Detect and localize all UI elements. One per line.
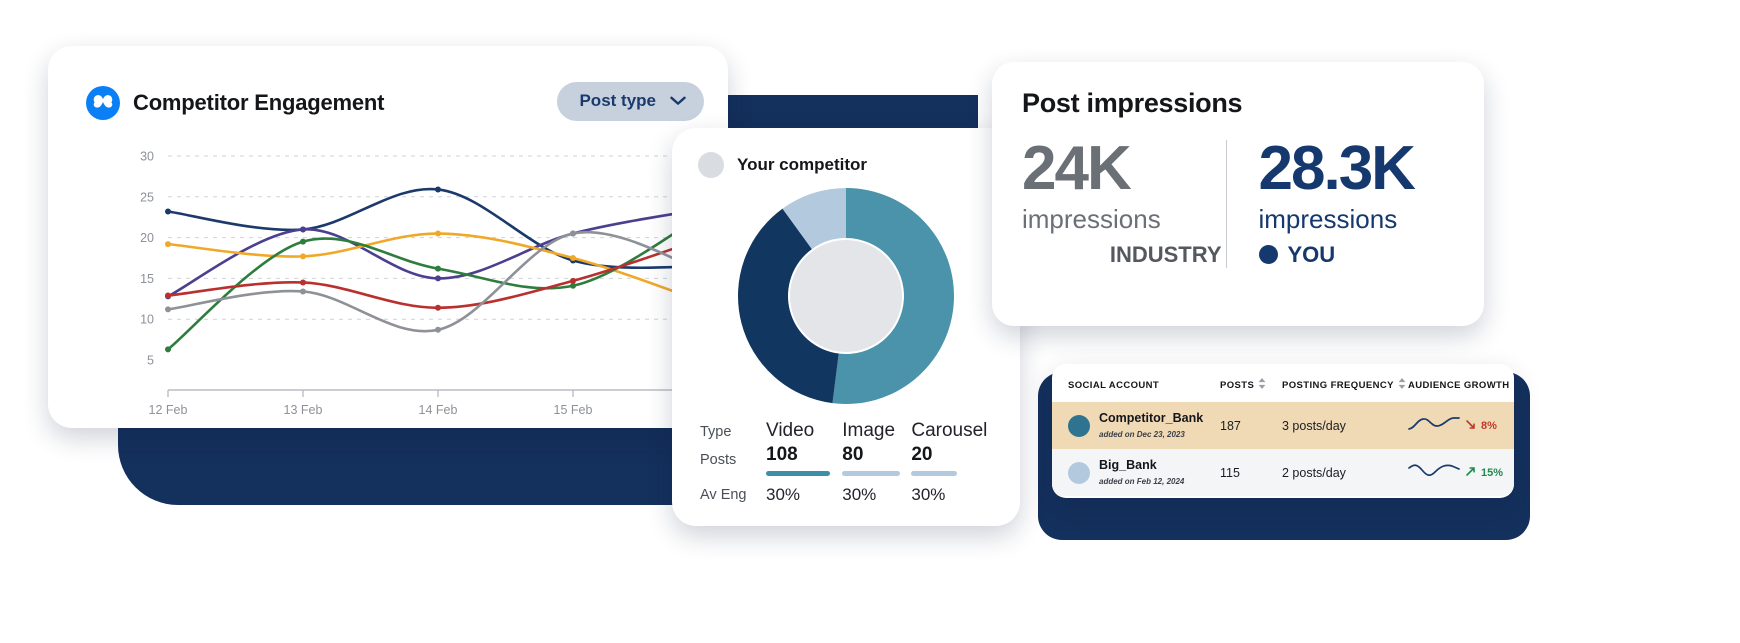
cell-posts-2: 115 xyxy=(1220,449,1282,496)
stats-aveng-image: 30% xyxy=(842,485,911,505)
post-type-stats-table: Type Video Image Carousel Posts 108 80 xyxy=(700,420,1002,505)
cell-account-1: Competitor_Bank added on Dec 23, 2023 xyxy=(1052,402,1220,449)
svg-text:10: 10 xyxy=(140,313,154,327)
account-posts: 115 xyxy=(1220,466,1240,480)
header-label-audience-growth: AUDIENCE GROWTH xyxy=(1408,380,1510,391)
svg-text:12 Feb: 12 Feb xyxy=(149,403,188,417)
svg-text:30: 30 xyxy=(140,150,154,164)
dashboard-collage: Competitor Engagement Post type 51015202… xyxy=(0,0,1740,643)
engagement-line-chart: 5101520253012 Feb13 Feb14 Feb15 Feb16 Fe… xyxy=(48,138,728,428)
cell-frequency-2: 2 posts/day xyxy=(1282,449,1408,496)
competitor-engagement-card: Competitor Engagement Post type 51015202… xyxy=(48,46,728,428)
stats-posts-video-cell: 108 xyxy=(766,444,842,476)
social-accounts-card: SOCIAL ACCOUNT POSTS xyxy=(1052,364,1514,498)
cell-growth-1: 8% xyxy=(1408,402,1514,449)
stats-posts-carousel: 20 xyxy=(911,444,1002,466)
svg-text:14 Feb: 14 Feb xyxy=(419,403,458,417)
stats-label-type: Type xyxy=(700,420,766,444)
you-value: 28.3K xyxy=(1259,140,1463,197)
post-type-label: Post type xyxy=(579,91,656,111)
svg-text:20: 20 xyxy=(140,231,154,245)
account-added-date: added on Dec 23, 2023 xyxy=(1099,430,1185,439)
column-header-posts[interactable]: POSTS xyxy=(1220,364,1282,402)
column-header-social-account[interactable]: SOCIAL ACCOUNT xyxy=(1052,364,1220,402)
industry-unit: impressions xyxy=(1022,203,1226,236)
account-frequency: 3 posts/day xyxy=(1282,419,1346,433)
competitor-name: Your competitor xyxy=(737,155,867,175)
stats-posts-carousel-cell: 20 xyxy=(911,444,1002,476)
account-name: Competitor_Bank xyxy=(1099,411,1203,425)
audience-growth-value: 15% xyxy=(1481,467,1503,479)
sort-arrows-icon[interactable] xyxy=(1398,378,1406,392)
stats-row-type: Type Video Image Carousel xyxy=(700,420,1002,444)
social-accounts-table: SOCIAL ACCOUNT POSTS xyxy=(1052,364,1514,496)
you-unit: impressions xyxy=(1259,203,1463,236)
account-posts: 187 xyxy=(1220,419,1241,433)
impressions-title: Post impressions xyxy=(1022,88,1242,119)
column-header-posting-frequency[interactable]: POSTING FREQUENCY xyxy=(1282,364,1408,402)
competitor-header: Your competitor xyxy=(698,152,867,178)
stats-spacer xyxy=(700,476,1002,485)
cell-account-2: Big_Bank added on Feb 12, 2024 xyxy=(1052,449,1220,496)
impressions-columns: 24K impressions INDUSTRY 28.3K impressio… xyxy=(1022,140,1462,268)
header-label-social-account: SOCIAL ACCOUNT xyxy=(1068,380,1159,391)
industry-tag: INDUSTRY xyxy=(1022,242,1226,268)
accounts-table-body: Competitor_Bank added on Dec 23, 2023 18… xyxy=(1052,402,1514,496)
arrow-up-right-icon xyxy=(1465,466,1476,480)
you-tag-group: YOU xyxy=(1259,242,1463,268)
stats-label-aveng: Av Eng xyxy=(700,485,766,505)
header-label-posting-frequency: POSTING FREQUENCY xyxy=(1282,380,1394,391)
table-row[interactable]: Big_Bank added on Feb 12, 2024 115 2 pos… xyxy=(1052,449,1514,496)
chevron-down-icon xyxy=(670,91,686,111)
stats-posts-image-cell: 80 xyxy=(842,444,911,476)
sort-arrows-icon[interactable] xyxy=(1258,378,1266,392)
audience-growth-sparkline xyxy=(1408,460,1460,485)
post-type-dropdown[interactable]: Post type xyxy=(557,82,704,121)
post-impressions-card: Post impressions 24K impressions INDUSTR… xyxy=(992,62,1484,326)
account-avatar-icon xyxy=(1068,415,1090,437)
stats-label-posts: Posts xyxy=(700,444,766,476)
table-row[interactable]: Competitor_Bank added on Dec 23, 2023 18… xyxy=(1052,402,1514,449)
audience-growth-sparkline xyxy=(1408,413,1460,438)
competitor-breakdown-card: Your competitor Type Video Image Carouse… xyxy=(672,128,1020,526)
header-label-posts: POSTS xyxy=(1220,380,1254,391)
svg-text:25: 25 xyxy=(140,190,154,204)
account-avatar-icon xyxy=(1068,462,1090,484)
cell-frequency-1: 3 posts/day xyxy=(1282,402,1408,449)
cell-growth-2: 15% xyxy=(1408,449,1514,496)
cell-posts-1: 187 xyxy=(1220,402,1282,449)
impressions-you-column: 28.3K impressions YOU xyxy=(1226,140,1463,268)
account-frequency: 2 posts/day xyxy=(1282,466,1346,480)
butterfly-logo-icon xyxy=(86,86,120,120)
accounts-table-head: SOCIAL ACCOUNT POSTS xyxy=(1052,364,1514,402)
stats-posts-video: 108 xyxy=(766,444,842,466)
svg-text:15 Feb: 15 Feb xyxy=(554,403,593,417)
account-name: Big_Bank xyxy=(1099,458,1157,472)
you-legend-dot-icon xyxy=(1259,245,1278,264)
svg-text:15: 15 xyxy=(140,272,154,286)
stats-type-image: Image xyxy=(842,420,911,444)
column-header-audience-growth[interactable]: AUDIENCE GROWTH xyxy=(1408,364,1514,402)
page-title: Competitor Engagement xyxy=(133,90,384,116)
post-type-donut-chart xyxy=(672,184,1020,414)
stats-type-carousel: Carousel xyxy=(911,420,1002,444)
you-tag: YOU xyxy=(1288,242,1336,268)
stats-aveng-video: 30% xyxy=(766,485,842,505)
svg-text:13 Feb: 13 Feb xyxy=(284,403,323,417)
stats-row-posts: Posts 108 80 20 xyxy=(700,444,1002,476)
stats-aveng-carousel: 30% xyxy=(911,485,1002,505)
audience-growth-value: 8% xyxy=(1481,420,1497,432)
impressions-industry-column: 24K impressions INDUSTRY xyxy=(1022,140,1226,268)
arrow-down-right-icon xyxy=(1465,419,1476,433)
industry-value: 24K xyxy=(1022,140,1226,197)
stats-posts-image: 80 xyxy=(842,444,911,466)
competitor-avatar xyxy=(698,152,724,178)
account-added-date: added on Feb 12, 2024 xyxy=(1099,477,1184,486)
svg-text:5: 5 xyxy=(147,354,154,368)
stats-row-aveng: Av Eng 30% 30% 30% xyxy=(700,485,1002,505)
stats-type-video: Video xyxy=(766,420,842,444)
